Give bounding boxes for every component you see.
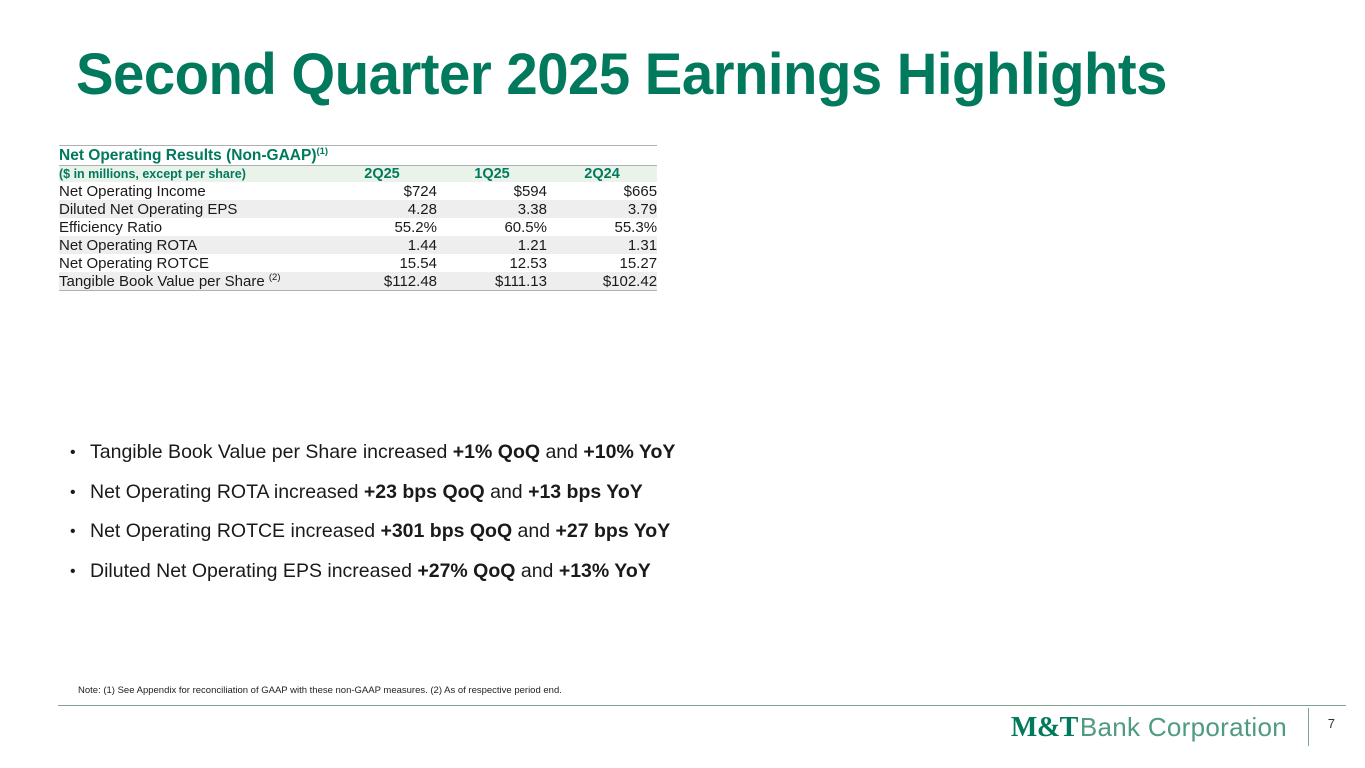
list-item: Diluted Net Operating EPS increased +27%… xyxy=(68,552,1068,592)
row-label-footnote-marker: (2) xyxy=(269,272,281,283)
list-item: Tangible Book Value per Share increased … xyxy=(68,433,1068,473)
row-value-2q25: 4.28 xyxy=(327,200,437,218)
table-row: Efficiency Ratio 55.2% 60.5% 55.3% xyxy=(59,218,657,236)
row-value-2q24: $102.42 xyxy=(547,272,657,291)
metric-emphasis: +13% YoY xyxy=(559,560,651,582)
row-value-2q25: $112.48 xyxy=(327,272,437,291)
metric-emphasis: +27 bps YoY xyxy=(556,520,671,542)
logo-wordmark: Bank Corporation xyxy=(1080,712,1287,742)
metric-emphasis: +1% QoQ xyxy=(453,441,540,463)
logo-monogram: M&T xyxy=(1011,712,1078,743)
footer-vertical-divider xyxy=(1308,708,1309,746)
row-label: Net Operating ROTCE xyxy=(59,254,327,272)
row-value-2q24: 3.79 xyxy=(547,200,657,218)
bullet-text: and xyxy=(485,481,528,503)
table-body: Net Operating Results (Non-GAAP)(1) ($ i… xyxy=(59,146,657,291)
row-value-2q25: 55.2% xyxy=(327,218,437,236)
row-value-2q24: $665 xyxy=(547,182,657,200)
net-operating-results-table: Net Operating Results (Non-GAAP)(1) ($ i… xyxy=(59,145,657,291)
row-value-2q25: 1.44 xyxy=(327,236,437,254)
table-caption-row: Net Operating Results (Non-GAAP)(1) xyxy=(59,146,657,166)
row-value-2q25: 15.54 xyxy=(327,254,437,272)
slide-footnote: Note: (1) See Appendix for reconciliatio… xyxy=(78,685,562,696)
bullet-text: and xyxy=(515,560,558,582)
footer-divider-rule xyxy=(58,705,1346,706)
row-value-1q25: 12.53 xyxy=(437,254,547,272)
table-caption-footnote-marker: (1) xyxy=(316,146,328,157)
column-header-2q24: 2Q24 xyxy=(547,166,657,183)
table-row: Tangible Book Value per Share (2) $112.4… xyxy=(59,272,657,291)
column-header-2q25: 2Q25 xyxy=(327,166,437,183)
row-value-1q25: $111.13 xyxy=(437,272,547,291)
row-value-1q25: 3.38 xyxy=(437,200,547,218)
column-header-1q25: 1Q25 xyxy=(437,166,547,183)
bullet-text: Net Operating ROTA increased xyxy=(90,481,364,503)
row-value-2q25: $724 xyxy=(327,182,437,200)
row-value-2q24: 55.3% xyxy=(547,218,657,236)
highlights-bullet-list: Tangible Book Value per Share increased … xyxy=(68,433,1068,591)
row-value-1q25: $594 xyxy=(437,182,547,200)
table-row: Net Operating ROTA 1.44 1.21 1.31 xyxy=(59,236,657,254)
mt-bank-logo: M&TBank Corporation xyxy=(1011,712,1287,744)
row-label: Efficiency Ratio xyxy=(59,218,327,236)
page-number: 7 xyxy=(1328,716,1335,731)
row-value-1q25: 60.5% xyxy=(437,218,547,236)
row-label: Tangible Book Value per Share (2) xyxy=(59,272,327,291)
row-value-1q25: 1.21 xyxy=(437,236,547,254)
table-caption: Net Operating Results (Non-GAAP)(1) xyxy=(59,146,657,166)
row-label: Diluted Net Operating EPS xyxy=(59,200,327,218)
row-label: Net Operating ROTA xyxy=(59,236,327,254)
table-caption-text: Net Operating Results (Non-GAAP) xyxy=(59,147,316,164)
bullet-text: Diluted Net Operating EPS increased xyxy=(90,560,417,582)
column-header-units: ($ in millions, except per share) xyxy=(59,166,327,183)
table-row: Net Operating Income $724 $594 $665 xyxy=(59,182,657,200)
metric-emphasis: +23 bps QoQ xyxy=(364,481,485,503)
page-title: Second Quarter 2025 Earnings Highlights xyxy=(76,42,1167,108)
metric-emphasis: +27% QoQ xyxy=(417,560,515,582)
table-header-row: ($ in millions, except per share) 2Q25 1… xyxy=(59,166,657,183)
row-label-text: Tangible Book Value per Share xyxy=(59,273,265,290)
bullet-text: and xyxy=(512,520,555,542)
list-item: Net Operating ROTA increased +23 bps QoQ… xyxy=(68,473,1068,513)
row-label: Net Operating Income xyxy=(59,182,327,200)
list-item: Net Operating ROTCE increased +301 bps Q… xyxy=(68,512,1068,552)
bullet-text: Tangible Book Value per Share increased xyxy=(90,441,453,463)
metric-emphasis: +10% YoY xyxy=(583,441,675,463)
bullet-text: and xyxy=(540,441,583,463)
table-row: Diluted Net Operating EPS 4.28 3.38 3.79 xyxy=(59,200,657,218)
row-value-2q24: 1.31 xyxy=(547,236,657,254)
bullet-text: Net Operating ROTCE increased xyxy=(90,520,380,542)
metric-emphasis: +301 bps QoQ xyxy=(380,520,512,542)
row-value-2q24: 15.27 xyxy=(547,254,657,272)
metric-emphasis: +13 bps YoY xyxy=(528,481,643,503)
table-row: Net Operating ROTCE 15.54 12.53 15.27 xyxy=(59,254,657,272)
